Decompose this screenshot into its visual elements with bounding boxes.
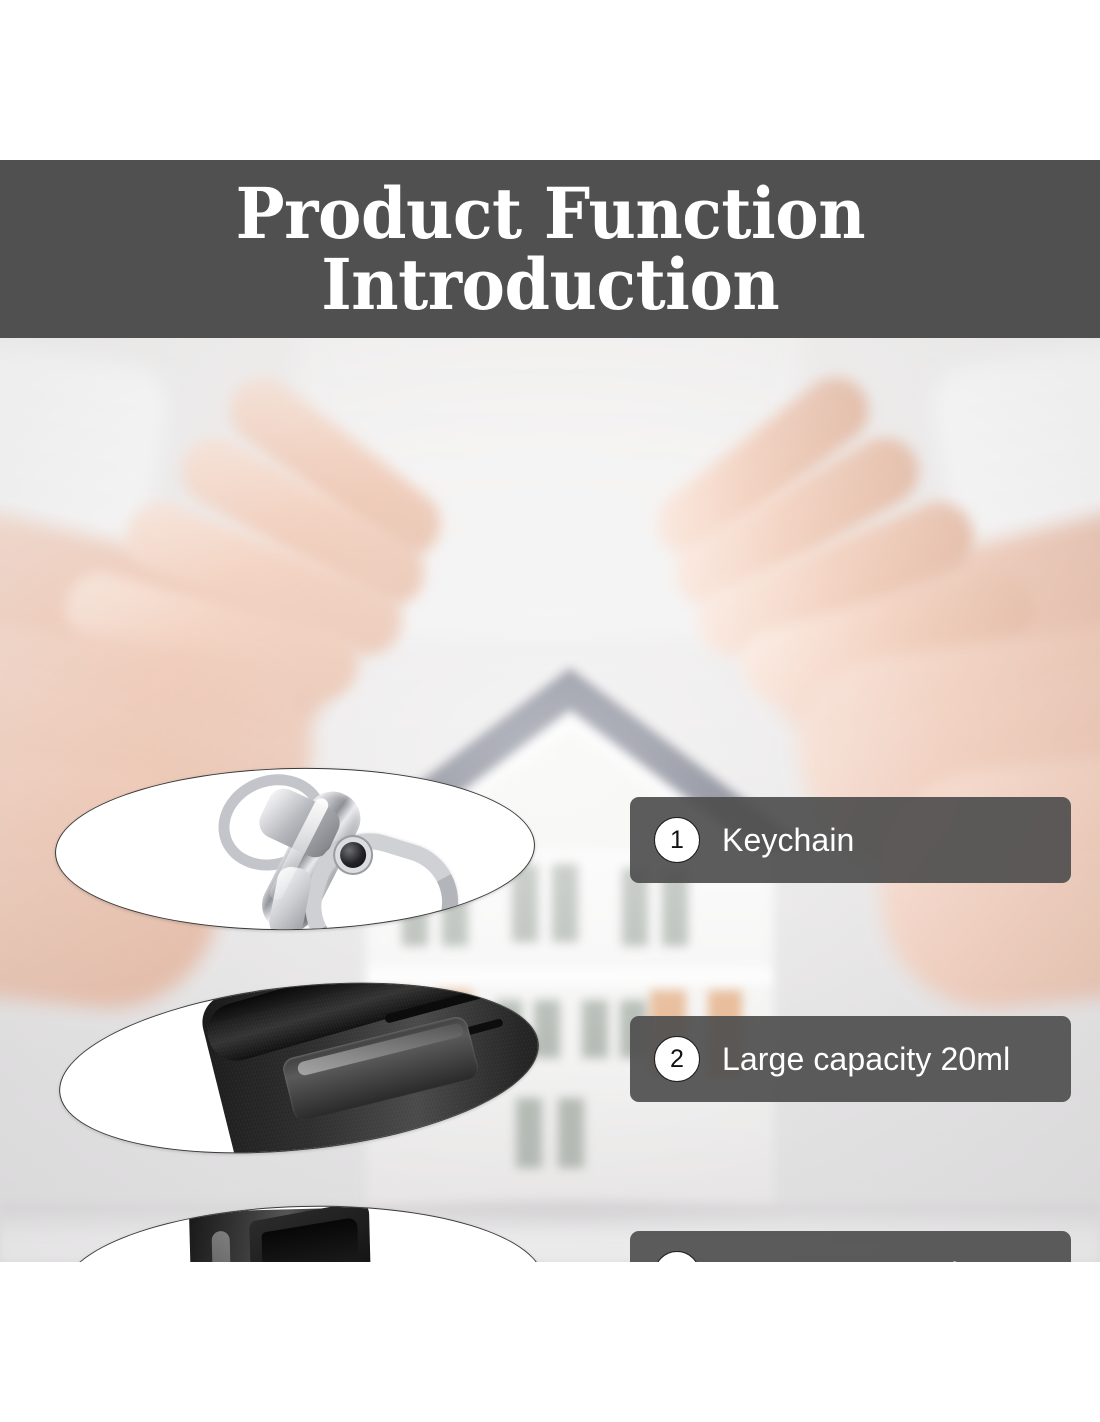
feature-number-badge: 1 [654,817,700,863]
feature-item-1[interactable]: 1 Keychain [630,797,1071,883]
feature-number-badge: 2 [654,1036,700,1082]
feature-label: Press type nozzle [722,1256,976,1263]
feature-item-3[interactable]: 3 Press type nozzle [630,1231,1071,1262]
title-banner: Product Function Introduction [0,160,1100,338]
page-title-line-1: Product Function [235,179,864,248]
keychain-clasp-icon [55,765,536,933]
callout-oval-keychain [54,764,537,934]
feature-item-2[interactable]: 2 Large capacity 20ml [630,1016,1071,1102]
background-photo: 1 Keychain 2 Large capacity 20ml 3 Press… [0,338,1100,1262]
feature-label: Large capacity 20ml [722,1041,1010,1078]
page-title-line-2: Introduction [321,250,779,319]
product-infographic: Product Function Introduction [0,0,1100,1422]
feature-label: Keychain [722,822,854,859]
feature-number-badge: 3 [654,1251,700,1262]
